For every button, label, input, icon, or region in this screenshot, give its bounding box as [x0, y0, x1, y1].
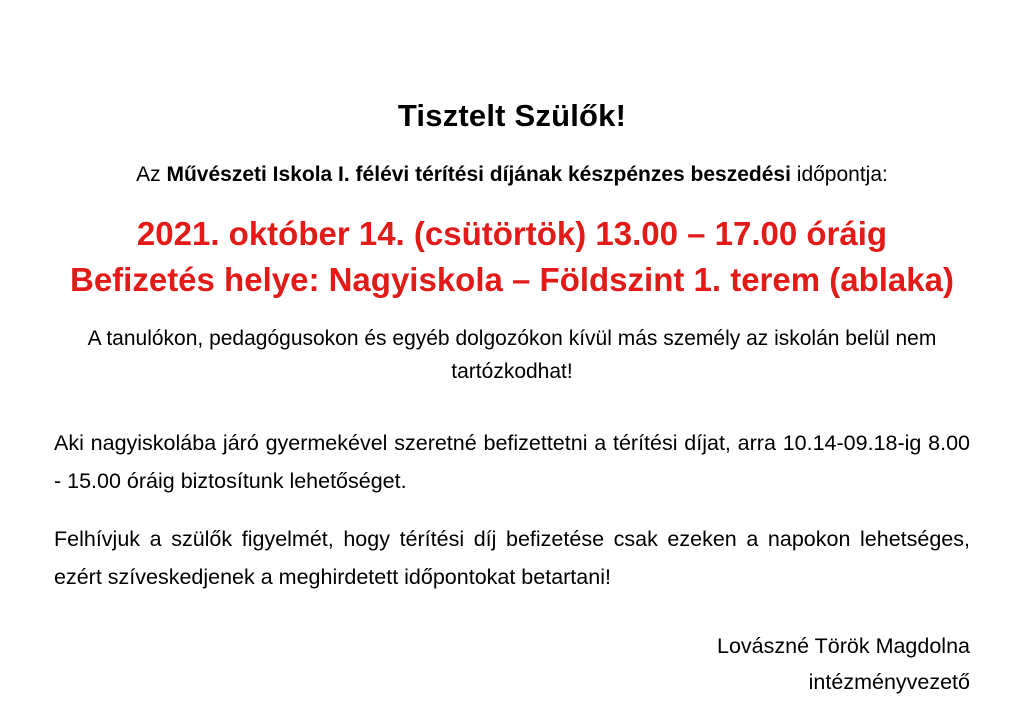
highlight-date-time: 2021. október 14. (csütörtök) 13.00 – 17…	[54, 190, 970, 256]
notice-content: Tisztelt Szülők! Az Művészeti Iskola I. …	[54, 0, 970, 700]
subtitle-lead: Az	[136, 163, 166, 186]
payment-window-paragraph: Aki nagyiskolába járó gyermekével szeret…	[54, 388, 970, 500]
subtitle-emphasis: Művészeti Iskola I. félévi térítési díjá…	[166, 163, 790, 186]
signature-block: Lovászné Török Magdolna intézményvezető	[54, 596, 970, 700]
page-title: Tisztelt Szülők!	[54, 0, 970, 136]
signature-name: Lovászné Török Magdolna	[54, 628, 970, 664]
notice-page: Tisztelt Szülők! Az Művészeti Iskola I. …	[0, 0, 1024, 724]
subtitle-line: Az Művészeti Iskola I. félévi térítési d…	[54, 136, 970, 190]
subtitle-trail: időpontja:	[791, 163, 888, 186]
deadline-reminder-paragraph: Felhívjuk a szülők figyelmét, hogy térít…	[54, 500, 970, 596]
access-restriction-note: A tanulókon, pedagógusokon és egyéb dolg…	[54, 302, 970, 388]
highlight-location: Befizetés helye: Nagyiskola – Földszint …	[54, 256, 970, 302]
signature-role: intézményvezető	[54, 664, 970, 700]
